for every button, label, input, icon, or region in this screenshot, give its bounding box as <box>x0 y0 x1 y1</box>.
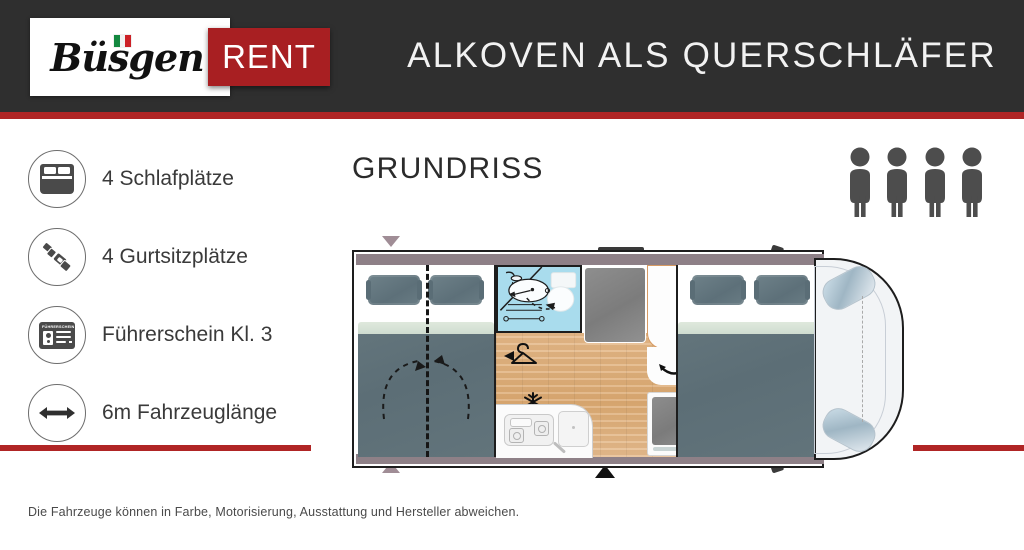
burner <box>509 428 524 443</box>
feature-sleeping-places: 4 Schlafplätze <box>28 140 328 218</box>
mattress <box>678 331 824 457</box>
person-icon <box>958 146 986 218</box>
header-accent-rule <box>0 112 1024 119</box>
double-arrow-glyph <box>37 403 77 423</box>
windshield-line <box>862 296 863 422</box>
brand-name: Büsgen <box>30 18 230 96</box>
bathroom-fixtures <box>498 267 580 331</box>
poster-page: Büsgen RENT ALKOVEN ALS QUERSCHLÄFER 4 S… <box>0 0 1024 550</box>
header-bar: Büsgen RENT ALKOVEN ALS QUERSCHLÄFER <box>0 0 1024 112</box>
window-marker-top-left <box>382 236 400 247</box>
rear-bed <box>358 265 496 457</box>
feature-vehicle-length: 6m Fahrzeuglänge <box>28 374 328 452</box>
accent-bar-right <box>913 445 1024 451</box>
feature-drivers-license: FÜHRERSCHEIN Führerschein Kl. 3 <box>28 296 328 374</box>
drivers-license-icon: FÜHRERSCHEIN <box>28 306 86 364</box>
person-icon <box>846 146 874 218</box>
disclaimer-text: Die Fahrzeuge können in Farbe, Motorisie… <box>28 505 519 519</box>
wall-strip-top <box>356 254 824 265</box>
feature-label: 6m Fahrzeuglänge <box>102 401 277 425</box>
feature-label: Führerschein Kl. 3 <box>102 323 272 347</box>
person-icon <box>921 146 949 218</box>
rent-label: RENT <box>222 38 316 76</box>
bed-icon <box>28 150 86 208</box>
feature-label: 4 Schlafplätze <box>102 167 234 191</box>
pillow <box>756 275 808 305</box>
pillow <box>430 275 482 305</box>
wardrobe-unit <box>584 267 646 343</box>
kitchen-sink <box>558 411 589 447</box>
floorplan <box>352 250 892 468</box>
hanger-icon <box>502 343 544 369</box>
rent-badge: RENT <box>208 28 330 86</box>
bed-split-line <box>426 265 429 457</box>
feature-label: 4 Gurtsitzplätze <box>102 245 248 269</box>
section-heading-grundriss: GRUNDRISS <box>352 152 544 186</box>
logo-plate: Büsgen <box>30 18 230 96</box>
seatbelt-glyph <box>39 239 75 275</box>
burner <box>534 421 549 436</box>
pillow <box>368 275 420 305</box>
vehicle-body <box>352 250 824 468</box>
person-icon <box>883 146 911 218</box>
double-arrow-icon <box>28 384 86 442</box>
seatbelt-icon <box>28 228 86 286</box>
feature-belted-seats: 4 Gurtsitzplätze <box>28 218 328 296</box>
drivers-cab <box>814 258 904 460</box>
license-card-text: FÜHRERSCHEIN <box>42 324 74 329</box>
feature-list: 4 Schlafplätze 4 Gurtsitzplätze <box>28 140 328 452</box>
page-title: ALKOVEN ALS QUERSCHLÄFER <box>380 0 1024 112</box>
pillow <box>692 275 744 305</box>
alcove-bed <box>676 265 824 457</box>
bathroom <box>496 265 582 333</box>
hob-knobs <box>510 418 532 427</box>
accent-bar-left <box>0 445 311 451</box>
hob <box>504 414 554 446</box>
italian-flag-icon <box>114 35 131 47</box>
kitchen-block <box>496 404 593 458</box>
brand-logo[interactable]: Büsgen RENT <box>30 18 330 96</box>
occupancy-icons <box>846 146 986 218</box>
